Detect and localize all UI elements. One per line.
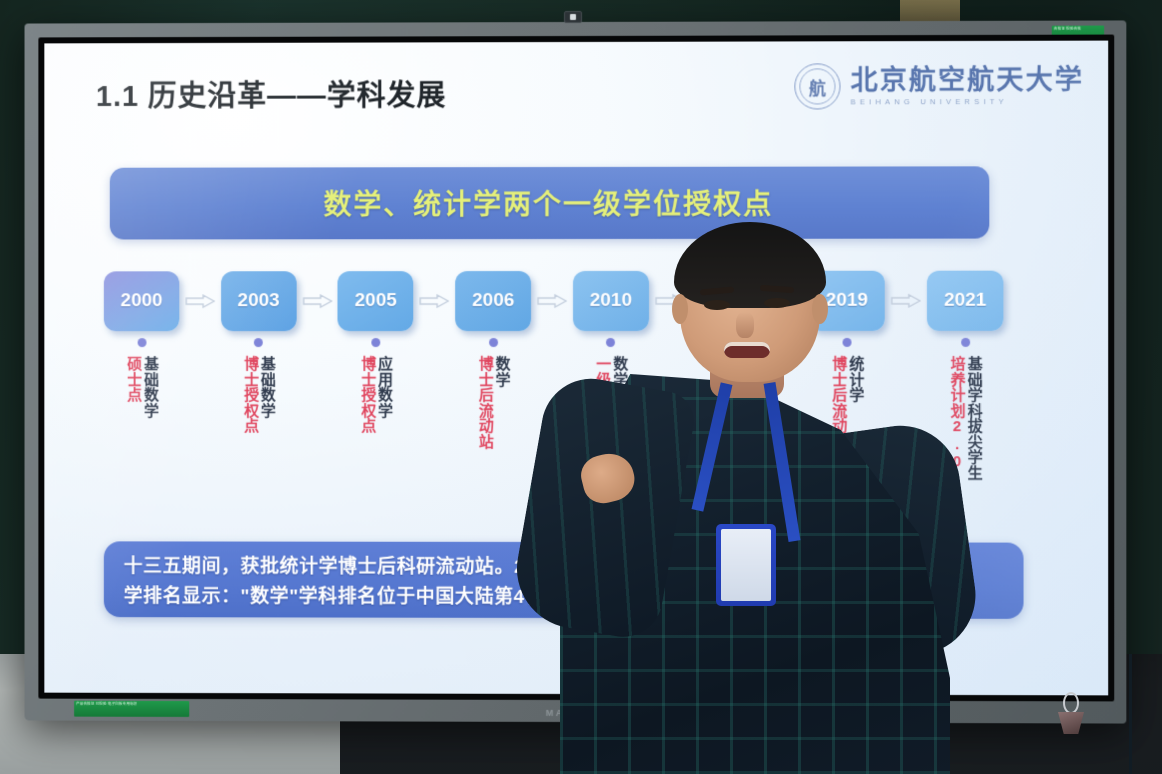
timeline-labels: 基础数学硕士点基础数学博士授权点应用数学博士授权点数学博士后流动站数学一级学科统… bbox=[104, 338, 1004, 539]
timeline-node-2003: 2003 bbox=[221, 271, 297, 331]
timeline-node-2006: 2006 bbox=[455, 271, 531, 331]
footer-banner-line1: 十三五期间，获批统计学博士后科研流动站。2020" 年QS世界大 bbox=[124, 551, 1004, 579]
university-seal-icon: 航 bbox=[794, 63, 840, 109]
headline-banner-text: 数学、统计学两个一级学位授权点 bbox=[324, 183, 774, 224]
university-logo: 航 北京航空航天大学 BEIHANG UNIVERSITY bbox=[794, 63, 1084, 110]
timeline-label-2021: 基础学科拔尖学生培养计划2.0 bbox=[927, 338, 1003, 480]
timeline-label-secondary: 博士授权点 bbox=[359, 356, 375, 433]
timeline-label-primary: 基础数学 bbox=[259, 356, 275, 433]
headline-banner: 数学、统计学两个一级学位授权点 bbox=[110, 166, 989, 239]
timeline-label-secondary: 硕士点 bbox=[125, 356, 141, 418]
timeline-label-primary: 应用数学 bbox=[376, 356, 392, 433]
screen-bezel-inner: 1.1 历史沿革——学科发展 航 北京航空航天大学 BEIHANG UNIVER… bbox=[38, 35, 1114, 702]
timeline-label-2010: 数学一级学科 bbox=[573, 338, 649, 418]
timeline-label-secondary: 博士授权点 bbox=[242, 356, 258, 433]
timeline-dot-icon bbox=[842, 338, 851, 347]
arrow-right-icon bbox=[531, 294, 573, 308]
timeline-label-primary: 统计学 bbox=[847, 356, 863, 449]
binder-clip-icon bbox=[1058, 692, 1084, 754]
timeline-dot-icon bbox=[724, 338, 733, 347]
display-cable bbox=[1129, 654, 1132, 774]
timeline-dot-icon bbox=[254, 338, 263, 347]
timeline-node-2005: 2005 bbox=[338, 271, 414, 331]
university-name-cn: 北京航空航天大学 bbox=[851, 67, 1084, 95]
arrow-right-icon bbox=[179, 294, 220, 308]
timeline-node-2000: 2000 bbox=[104, 271, 179, 331]
timeline-node-2011: 2011 bbox=[691, 271, 767, 331]
timeline: 20002003200520062010201120192021 bbox=[104, 268, 1004, 335]
arrow-right-icon bbox=[885, 294, 927, 308]
page-title: 1.1 历史沿革——学科发展 bbox=[96, 72, 447, 115]
timeline-label-primary: 基础学科拔尖学生 bbox=[966, 356, 982, 480]
arrow-right-icon bbox=[414, 294, 456, 308]
timeline-label-2000: 基础数学硕士点 bbox=[104, 338, 179, 418]
camera-icon bbox=[564, 11, 582, 23]
timeline-label-primary: 数学 bbox=[611, 356, 627, 418]
timeline-label-secondary: 一级学科 bbox=[594, 356, 610, 418]
timeline-dot-icon bbox=[371, 338, 380, 347]
timeline-label-2005: 应用数学博士授权点 bbox=[338, 338, 414, 433]
timeline-label-2019: 统计学博士后流动站 bbox=[809, 338, 885, 449]
footer-banner-line2: 学排名显示："数学"学科排名位于中国大陆第4名，"统计学"中国大陆第6名。 bbox=[124, 581, 1004, 610]
timeline-label-primary: 数学 bbox=[494, 356, 510, 449]
interactive-display[interactable]: 合格证 检验合格 产品合格证 已检验 电子白板专用标识 MAXHUB 1.1 历… bbox=[25, 20, 1127, 723]
timeline-dot-icon bbox=[137, 338, 146, 347]
device-brand-label: MAXHUB bbox=[546, 708, 600, 718]
university-name-en: BEIHANG UNIVERSITY bbox=[851, 98, 1084, 106]
timeline-node-2010: 2010 bbox=[573, 271, 649, 331]
timeline-dot-icon bbox=[489, 338, 498, 347]
timeline-label-2006: 数学博士后流动站 bbox=[455, 338, 531, 449]
timeline-label-secondary: 博士后流动站 bbox=[830, 356, 846, 449]
timeline-node-2021: 2021 bbox=[927, 271, 1003, 331]
timeline-dot-icon bbox=[961, 338, 970, 347]
presentation-slide: 1.1 历史沿革——学科发展 航 北京航空航天大学 BEIHANG UNIVER… bbox=[44, 41, 1108, 696]
arrow-right-icon bbox=[649, 294, 691, 308]
timeline-dot-icon bbox=[606, 338, 615, 347]
timeline-label-2003: 基础数学博士授权点 bbox=[221, 338, 297, 433]
timeline-label-secondary: 培养计划2.0 bbox=[949, 356, 965, 480]
timeline-label-secondary: 一级学科 bbox=[712, 356, 728, 418]
timeline-label-primary: 基础数学 bbox=[142, 356, 158, 418]
arrow-right-icon bbox=[296, 294, 338, 308]
timeline-label-2011: 统计学一级学科 bbox=[691, 338, 767, 418]
footer-banner: 十三五期间，获批统计学博士后科研流动站。2020" 年QS世界大 学排名显示："… bbox=[104, 541, 1024, 619]
timeline-label-secondary: 博士后流动站 bbox=[477, 356, 493, 449]
certification-sticker-bottom: 产品合格证 已检验 电子白板专用标识 bbox=[74, 701, 189, 717]
timeline-label-primary: 统计学 bbox=[729, 356, 745, 418]
arrow-right-icon bbox=[767, 294, 809, 308]
timeline-node-2019: 2019 bbox=[809, 271, 885, 331]
